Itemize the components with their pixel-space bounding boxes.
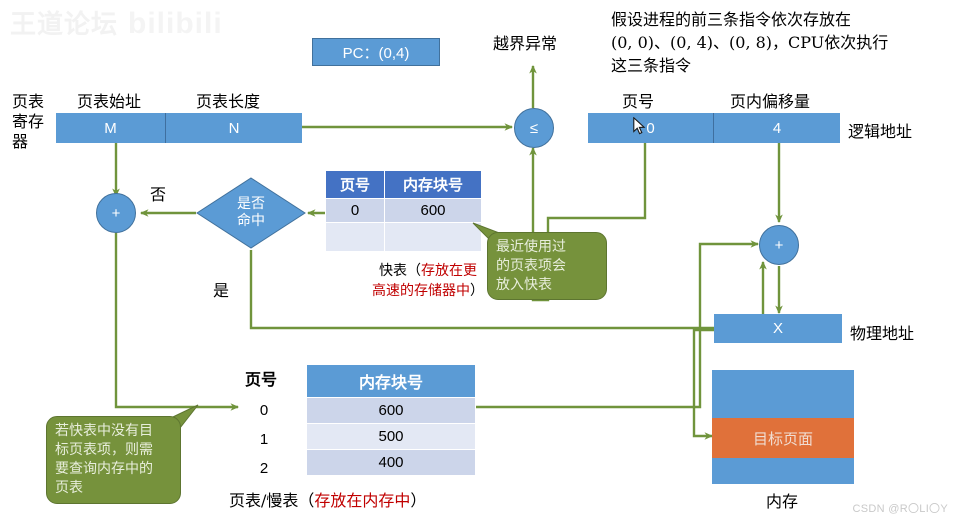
callout-tlb: 最近使用过 的页表项会 放入快表 [487,232,607,300]
logical-address-label: 逻辑地址 [848,118,912,142]
tlb-header-row: 页号 内存块号 [326,171,482,199]
page-table-length-header: 页表长度 [196,88,260,112]
page-table-index-0: 0 [249,396,279,425]
decision-branch-no-label: 否 [150,181,166,205]
tlb-header-block-number: 内存块号 [385,171,482,199]
page-table-caption: 页表/慢表（存放在内存中） [229,487,426,511]
logical-address-bar: 0 4 [588,113,840,143]
table-row [326,223,482,252]
page-table-register-side-label-line-1: 页表 [12,92,56,112]
page-table-register-side-label-line-3: 器 [12,132,56,152]
page-table-grid: 内存块号 600 500 400 [306,364,476,476]
table-row: 500 [307,424,476,450]
out-of-bounds-exception-label: 越界异常 [493,30,557,54]
callout-tlb-line-2: 的页表项会 [496,257,598,276]
page-table-row-1-block-number: 500 [307,424,476,450]
physical-address-box: X [714,314,842,343]
callout-miss: 若快表中没有目 标页表项，则需 要查询内存中的 页表 [46,416,181,504]
page-table-caption-red: 存放在内存中 [314,491,410,510]
logical-address-page-number-header: 页号 [622,88,654,112]
page-table-register-bar: M N [56,113,302,143]
callout-miss-line-2: 标页表项，则需 [55,441,172,460]
adder-right-symbol: + [775,237,784,254]
adder-left-node: + [96,193,136,233]
page-table-caption-plain-2: ） [410,491,426,510]
page-table-index-1: 1 [249,425,279,454]
callout-miss-line-3: 要查询内存中的 [55,460,172,479]
logical-address-offset-value: 4 [714,113,840,143]
page-table-caption-plain-1: 页表/慢表（ [229,491,314,510]
adder-right-node: + [759,225,799,265]
compare-node: ≤ [514,108,554,148]
watermark-top-left: 王道论坛bilibili [10,4,223,41]
tlb-row-0-block-number: 600 [385,199,482,223]
table-row: 400 [307,450,476,476]
page-table-index-header: 页号 [245,366,277,390]
assumption-note-line-1: 假设进程的前三条指令依次存放在 [611,8,951,31]
callout-miss-line-4: 页表 [55,479,172,498]
tlb-caption-line-2-red: 高速的存储器中 [372,283,470,299]
adder-left-symbol: + [112,205,121,222]
tlb-row-1-page-number [326,223,385,252]
table-row: 0 600 [326,199,482,223]
physical-address-value: X [773,320,783,337]
callout-miss-line-1: 若快表中没有目 [55,422,172,441]
memory-target-page-label: 目标页面 [753,428,813,449]
watermark-csdn: CSDN @R〇LI〇Y [853,500,948,516]
compare-symbol: ≤ [530,120,538,137]
tlb-table: 页号 内存块号 0 600 [325,170,482,252]
watermark-bilibili-logo: bilibili [128,7,223,41]
tlb-table-grid: 页号 内存块号 0 600 [325,170,482,252]
hit-decision-diamond: 是否 命中 [196,177,306,249]
page-table-header-block-number: 内存块号 [307,365,476,398]
memory-caption: 内存 [766,488,798,512]
memory-segment-target-page: 目标页面 [712,418,854,458]
tlb-caption-line-2-plain: ） [470,283,484,299]
tlb-row-0-page-number: 0 [326,199,385,223]
memory-block: 目标页面 [712,370,854,484]
assumption-note-line-3: 这三条指令 [611,54,951,77]
watermark-forum-text: 王道论坛 [10,9,118,39]
page-table-row-2-block-number: 400 [307,450,476,476]
page-table-index-2: 2 [249,454,279,483]
page-table-start-address-value: M [56,113,166,143]
logical-address-page-number-value: 0 [588,113,714,143]
pc-register-box: PC：(0,4) [312,38,440,66]
callout-tlb-line-3: 放入快表 [496,276,598,295]
diagram-canvas: 王道论坛bilibili CSDN @R〇LI〇Y PC：(0,4) 假设进程的… [0,0,954,520]
memory-segment-upper [712,370,854,418]
tlb-caption-line-1-red: 存放在更 [421,263,477,279]
page-table-index-column: 0 1 2 [249,396,279,483]
callout-tlb-line-1: 最近使用过 [496,238,598,257]
page-table-start-address-header: 页表始址 [77,88,141,112]
page-table-value-column: 内存块号 600 500 400 [306,364,476,476]
pc-register-label: PC：(0,4) [343,42,410,63]
memory-segment-lower [712,458,854,484]
tlb-header-page-number: 页号 [326,171,385,199]
page-table-length-value: N [166,113,302,143]
tlb-caption-line-1-plain: 快表（ [379,263,421,279]
logical-address-offset-header: 页内偏移量 [730,88,810,112]
decision-branch-yes-label: 是 [213,277,229,301]
page-table-header-row: 内存块号 [307,365,476,398]
assumption-note: 假设进程的前三条指令依次存放在 (0, 0)、(0, 4)、(0, 8)，CPU… [611,8,951,77]
physical-address-label: 物理地址 [850,320,914,344]
assumption-note-line-2: (0, 0)、(0, 4)、(0, 8)，CPU依次执行 [611,31,951,54]
page-table-row-0-block-number: 600 [307,398,476,424]
table-row: 600 [307,398,476,424]
page-table-register-side-label-line-2: 寄存 [12,112,56,132]
page-table-register-side-label: 页表 寄存 器 [12,92,56,152]
tlb-row-1-block-number [385,223,482,252]
